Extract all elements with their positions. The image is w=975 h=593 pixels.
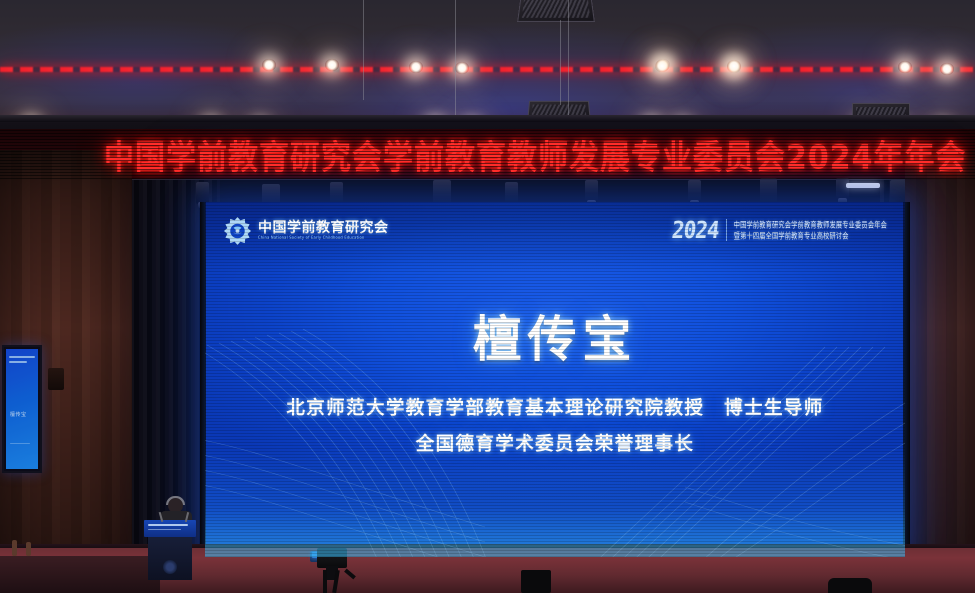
stage-light-icon bbox=[196, 182, 209, 204]
divider bbox=[726, 219, 727, 241]
foreground-equipment bbox=[828, 578, 872, 593]
speaker-title-line-1: 北京师范大学教育学部教育基本理论研究院教授 博士生导师 bbox=[205, 394, 905, 420]
speaker-title-line-2: 全国德育学术委员会荣誉理事长 bbox=[205, 430, 905, 456]
gear-flower-logo-icon bbox=[223, 216, 252, 245]
society-logo-cn: 中国学前教育研究会 bbox=[258, 221, 389, 236]
podium-emblem-icon bbox=[163, 560, 177, 574]
speaker-name: 檀传宝 bbox=[205, 300, 905, 371]
wood-wall-right bbox=[905, 150, 975, 593]
podium-sign bbox=[144, 520, 196, 537]
ceiling-speaker-icon bbox=[517, 0, 595, 22]
spotlight-icon bbox=[727, 60, 741, 72]
ceiling-spot-extra bbox=[0, 61, 975, 79]
wall-speaker-icon bbox=[48, 368, 64, 390]
confidence-monitor: 檀传宝 bbox=[2, 345, 42, 473]
slide-header: 中国学前教育研究会 China National Society of Earl… bbox=[205, 208, 905, 252]
stage-light-icon bbox=[836, 178, 849, 200]
stage-floor bbox=[0, 556, 160, 593]
truss-bar bbox=[0, 115, 975, 122]
confidence-monitor-text: 檀传宝 bbox=[10, 411, 27, 418]
stage-light-icon bbox=[760, 178, 777, 204]
event-title-line-2: 暨第十四届全国学前教育专业高校研讨会 bbox=[734, 230, 887, 242]
foreground-equipment bbox=[521, 570, 551, 593]
spotlight-icon bbox=[655, 60, 669, 72]
hanging-wire bbox=[560, 20, 561, 105]
tripod-leg bbox=[323, 570, 327, 593]
year-label: 2024 bbox=[671, 217, 720, 244]
foreground-equipment bbox=[26, 542, 31, 556]
society-logo-en: China National Society of Early Childhoo… bbox=[258, 235, 389, 240]
stage-light-icon bbox=[505, 182, 518, 204]
main-led-screen: 中国学前教育研究会 China National Society of Earl… bbox=[205, 202, 905, 557]
hanging-wire bbox=[363, 0, 364, 100]
bar-light-icon bbox=[846, 183, 880, 188]
society-logo: 中国学前教育研究会 China National Society of Earl… bbox=[223, 216, 389, 245]
stage-light-icon bbox=[585, 180, 598, 202]
event-title-line-1: 中国学前教育研究会学前教育教师发展专业委员会年会 bbox=[734, 219, 887, 231]
foreground-equipment bbox=[12, 540, 17, 556]
led-banner-text: 中国学前教育研究会学前教育教师发展专业委员会2024年年会 bbox=[104, 130, 967, 178]
hanging-wire bbox=[568, 0, 569, 120]
confidence-monitor-screen: 檀传宝 bbox=[6, 349, 38, 469]
auditorium-scene: 中国学前教育研究会学前教育教师发展专业委员会2024年年会 檀传宝 bbox=[0, 0, 975, 593]
stage-light-icon bbox=[330, 182, 343, 204]
led-banner: 中国学前教育研究会学前教育教师发展专业委员会2024年年会 bbox=[0, 129, 975, 179]
slide-header-right: 2024 中国学前教育研究会学前教育教师发展专业委员会年会 暨第十四届全国学前教… bbox=[672, 218, 887, 242]
stage-light-icon bbox=[688, 180, 701, 202]
